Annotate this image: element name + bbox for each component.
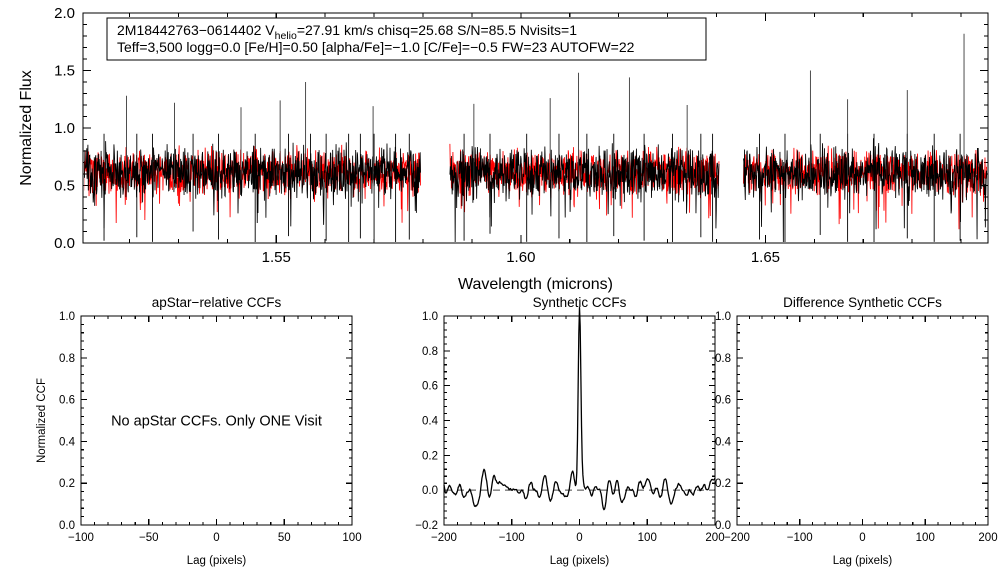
x-axis-title: Lag (pixels) bbox=[833, 555, 893, 567]
x-tick-label: 100 bbox=[342, 532, 361, 544]
y-tick-label: 1.0 bbox=[59, 311, 75, 323]
x-axis-title: Lag (pixels) bbox=[187, 555, 247, 567]
apogee-spectrum-figure: 1.551.601.650.00.51.01.52.0Wavelength (m… bbox=[0, 0, 1008, 576]
x-tick-label: −200 bbox=[724, 532, 750, 544]
y-tick-label: 0.4 bbox=[422, 416, 439, 428]
y-tick-label: 0.4 bbox=[59, 436, 76, 448]
y-tick-label: −0.2 bbox=[415, 520, 438, 532]
x-tick-label: 100 bbox=[638, 532, 657, 544]
y-tick-label: 2.0 bbox=[54, 5, 75, 22]
y-tick-label: 0.6 bbox=[715, 395, 731, 407]
y-tick-label: 0.0 bbox=[54, 235, 75, 252]
x-tick-label: −200 bbox=[431, 532, 457, 544]
panel-title: Difference Synthetic CCFs bbox=[783, 295, 942, 310]
x-tick-label: 0 bbox=[213, 532, 219, 544]
x-axis-title: Lag (pixels) bbox=[550, 555, 610, 567]
x-tick-label: 1.65 bbox=[751, 249, 780, 266]
y-tick-label: 0.2 bbox=[715, 478, 731, 490]
y-axis-title: Normalized Flux bbox=[18, 70, 35, 186]
x-tick-label: 0 bbox=[576, 532, 582, 544]
x-tick-label: 1.55 bbox=[262, 249, 291, 266]
y-tick-label: 0.0 bbox=[59, 520, 75, 532]
y-tick-label: 1.0 bbox=[715, 311, 731, 323]
parameter-box: 2M18442763−0614402 Vhelio=27.91 km/s chi… bbox=[107, 18, 706, 60]
y-tick-label: 1.5 bbox=[54, 63, 75, 80]
y-tick-label: 1.0 bbox=[422, 311, 438, 323]
y-tick-label: 0.6 bbox=[59, 395, 75, 407]
x-tick-label: 100 bbox=[916, 532, 935, 544]
y-tick-label: 0.5 bbox=[54, 178, 75, 195]
x-tick-label: 50 bbox=[278, 532, 291, 544]
y-tick-label: 0.0 bbox=[715, 520, 731, 532]
x-tick-label: 1.60 bbox=[506, 249, 535, 266]
no-ccf-message: No apStar CCFs. Only ONE Visit bbox=[111, 414, 322, 430]
y-tick-label: 0.2 bbox=[422, 450, 438, 462]
panel-title: apStar−relative CCFs bbox=[152, 295, 282, 310]
y-tick-label: 1.0 bbox=[54, 120, 75, 137]
x-tick-label: −100 bbox=[787, 532, 813, 544]
x-tick-label: 200 bbox=[978, 532, 997, 544]
x-tick-label: −100 bbox=[499, 532, 525, 544]
y-tick-label: 0.8 bbox=[59, 353, 75, 365]
x-tick-label: 200 bbox=[705, 532, 724, 544]
y-tick-label: 0.2 bbox=[59, 478, 75, 490]
y-tick-label: 0.8 bbox=[715, 353, 731, 365]
y-tick-label: 0.0 bbox=[422, 485, 438, 497]
x-tick-label: −50 bbox=[139, 532, 159, 544]
y-tick-label: 0.6 bbox=[422, 381, 438, 393]
y-axis-title: Normalized CCF bbox=[36, 378, 48, 463]
y-tick-label: 0.8 bbox=[422, 346, 438, 358]
y-tick-label: 0.4 bbox=[715, 436, 732, 448]
x-tick-label: 0 bbox=[859, 532, 865, 544]
x-axis-title: Wavelength (microns) bbox=[458, 276, 613, 293]
x-tick-label: −100 bbox=[68, 532, 94, 544]
parameter-line-2: Teff=3,500 logg=0.0 [Fe/H]=0.50 [alpha/F… bbox=[117, 39, 635, 55]
